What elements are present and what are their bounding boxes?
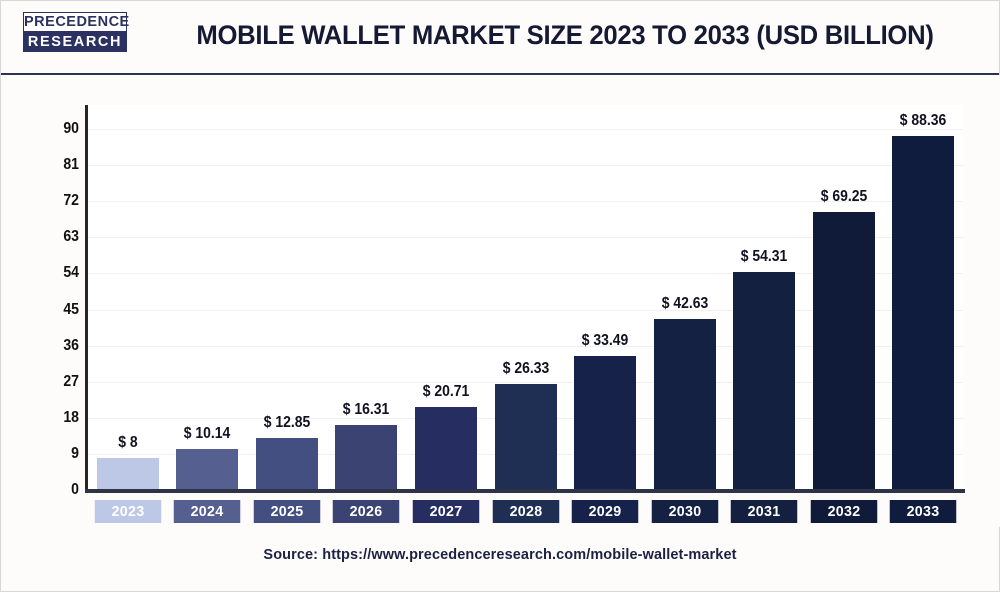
bar-2023[interactable] [97, 458, 159, 490]
bar-value-label: $ 16.31 [321, 401, 413, 419]
y-axis-tick-label: 90 [31, 120, 79, 138]
logo-bottom-text: RESEARCH [23, 32, 127, 52]
y-axis-tick-label: 9 [31, 445, 79, 463]
y-axis-tick-label: 63 [31, 228, 79, 246]
bar-2026[interactable] [335, 425, 397, 490]
bar-value-label: $ 20.71 [400, 383, 492, 401]
bar-2025[interactable] [256, 438, 318, 490]
bar-value-label: $ 69.25 [798, 188, 890, 206]
bar-slot: $ 10.14 [176, 105, 238, 490]
x-axis-category-chips: 2023202420252026202720282029203020312032… [88, 500, 963, 526]
bar-value-label: $ 42.63 [639, 295, 731, 313]
logo-top-text: PRECEDENCE [23, 12, 127, 32]
y-axis-tick-label: 45 [31, 301, 79, 319]
bar-2024[interactable] [176, 449, 238, 490]
bar-slot: $ 54.31 [733, 105, 795, 490]
x-category-chip-2029[interactable]: 2029 [572, 500, 639, 523]
y-axis-tick-label: 81 [31, 156, 79, 174]
header-bar: PRECEDENCE RESEARCH MOBILE WALLET MARKET… [1, 1, 999, 75]
bar-value-label: $ 10.14 [161, 425, 253, 443]
y-axis-tick-label: 36 [31, 337, 79, 355]
bar-slot: $ 69.25 [813, 105, 875, 490]
x-category-chip-2025[interactable]: 2025 [254, 500, 321, 523]
x-category-chip-2023[interactable]: 2023 [95, 500, 162, 523]
bar-slot: $ 20.71 [415, 105, 477, 490]
bar-2031[interactable] [733, 272, 795, 490]
y-axis-tick-label: 18 [31, 409, 79, 427]
precedence-research-logo: PRECEDENCE RESEARCH [23, 12, 127, 52]
bar-2029[interactable] [574, 356, 636, 490]
bars-group: $ 8$ 10.14$ 12.85$ 16.31$ 20.71$ 26.33$ … [88, 105, 963, 490]
y-axis-tick-label: 27 [31, 373, 79, 391]
bar-slot: $ 8 [97, 105, 159, 490]
bar-2027[interactable] [415, 407, 477, 490]
y-axis-tick-label: 72 [31, 192, 79, 210]
bar-2028[interactable] [495, 384, 557, 490]
bar-value-label: $ 33.49 [559, 332, 651, 350]
x-category-chip-2032[interactable]: 2032 [810, 500, 877, 523]
bar-slot: $ 42.63 [654, 105, 716, 490]
bar-slot: $ 16.31 [335, 105, 397, 490]
bar-slot: $ 26.33 [495, 105, 557, 490]
x-category-chip-2031[interactable]: 2031 [731, 500, 798, 523]
y-axis-tick-labels: 09182736455463728190 [19, 105, 79, 490]
page-title: MOBILE WALLET MARKET SIZE 2023 TO 2033 (… [172, 20, 959, 51]
bar-slot: $ 33.49 [574, 105, 636, 490]
x-category-chip-2028[interactable]: 2028 [492, 500, 559, 523]
bar-value-label: $ 88.36 [877, 112, 969, 130]
bar-value-label: $ 8 [82, 434, 174, 452]
bar-value-label: $ 54.31 [718, 248, 810, 266]
x-category-chip-2024[interactable]: 2024 [174, 500, 241, 523]
bar-slot: $ 88.36 [892, 105, 954, 490]
bar-value-label: $ 26.33 [480, 360, 572, 378]
bar-value-label: $ 12.85 [241, 414, 333, 432]
source-text: Source: https://www.precedenceresearch.c… [1, 547, 999, 563]
y-axis-tick-label: 54 [31, 264, 79, 282]
x-axis-line [85, 489, 965, 493]
bar-slot: $ 12.85 [256, 105, 318, 490]
bar-2033[interactable] [892, 136, 954, 490]
bar-2032[interactable] [813, 212, 875, 490]
bar-2030[interactable] [654, 319, 716, 490]
x-category-chip-2027[interactable]: 2027 [413, 500, 480, 523]
y-axis-tick-label: 0 [31, 481, 79, 499]
x-category-chip-2033[interactable]: 2033 [890, 500, 957, 523]
x-category-chip-2030[interactable]: 2030 [651, 500, 718, 523]
chart-container: 09182736455463728190 $ 8$ 10.14$ 12.85$ … [1, 75, 1000, 527]
infographic-root: PRECEDENCE RESEARCH MOBILE WALLET MARKET… [0, 0, 1000, 592]
x-category-chip-2026[interactable]: 2026 [333, 500, 400, 523]
